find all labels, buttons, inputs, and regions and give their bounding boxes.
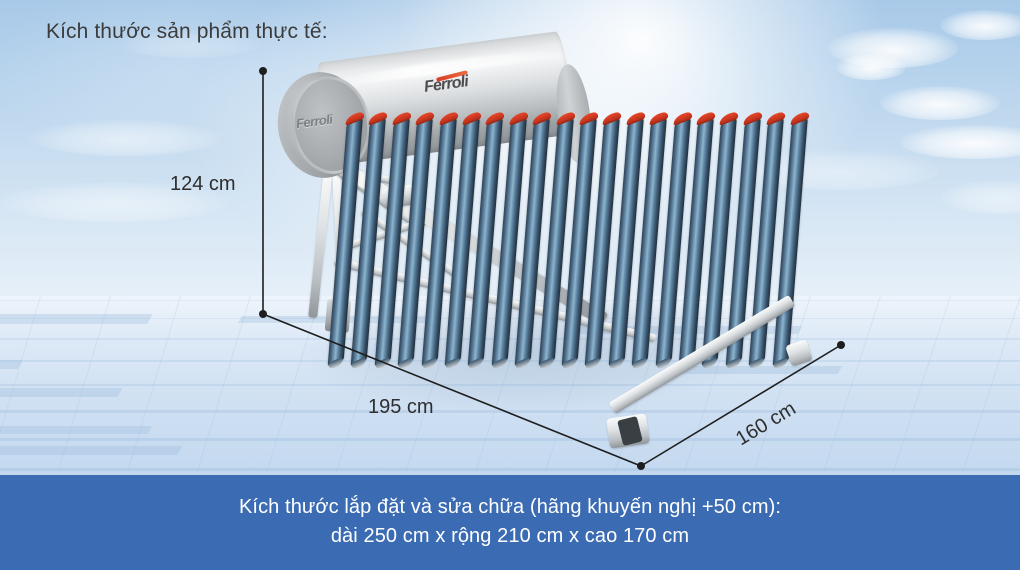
installation-note-banner: Kích thước lắp đặt và sửa chữa (hãng khu… [0,475,1020,570]
length-dimension-line [263,314,641,466]
dimension-endpoint-dot [837,341,845,349]
height-dimension-label: 124 cm [170,173,236,196]
banner-line-2: dài 250 cm x rộng 210 cm x cao 170 cm [0,522,1020,551]
dimension-infographic: Kích thước sản phẩm thực tế: Ferroli Fer… [0,0,1020,570]
width-dimension-line [641,345,841,466]
dimension-endpoint-dot [259,67,267,75]
length-dimension-label: 195 cm [368,396,434,419]
banner-line-1: Kích thước lắp đặt và sửa chữa (hãng khu… [0,475,1020,522]
